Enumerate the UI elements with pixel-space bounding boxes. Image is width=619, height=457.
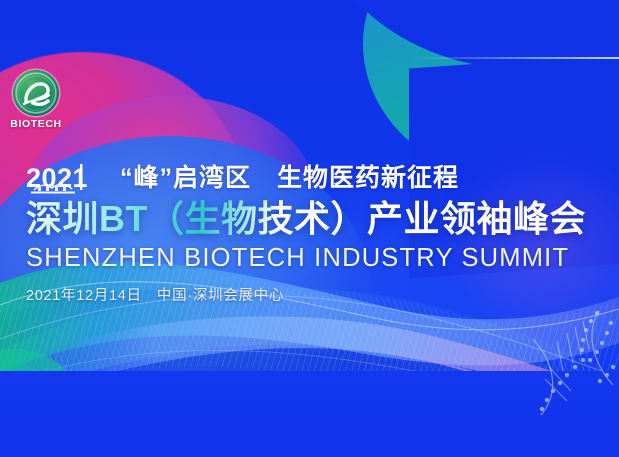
convention-center-building-icon: 2021 [26,161,114,195]
page-title-chinese: 深圳BT（生物技术）产业领袖峰会 [26,198,601,240]
dna-helix-icon [527,305,617,421]
kicker-line: 2021 “峰”启湾区 生物医药新征程 [26,160,601,196]
date-venue-text: 2021年12月14日 中国·深圳会展中心 [26,284,601,305]
biotech-logo: BIOTECH [7,70,65,132]
biotech-circle-logo-icon [13,70,59,116]
teal-arc-edge-line [409,57,619,59]
logo-swoosh-icon [13,70,59,116]
poster-text-block: 2021 “峰”启湾区 生物医药新征程 深圳BT [26,160,601,305]
page-title-english: SHENZHEN BIOTECH INDUSTRY SUMMIT [26,242,601,274]
conference-poster-banner: BIOTECH 2021 [0,0,619,457]
logo-wordmark: BIOTECH [7,118,65,130]
kicker-text: “峰”启湾区 生物医药新征程 [120,161,459,195]
